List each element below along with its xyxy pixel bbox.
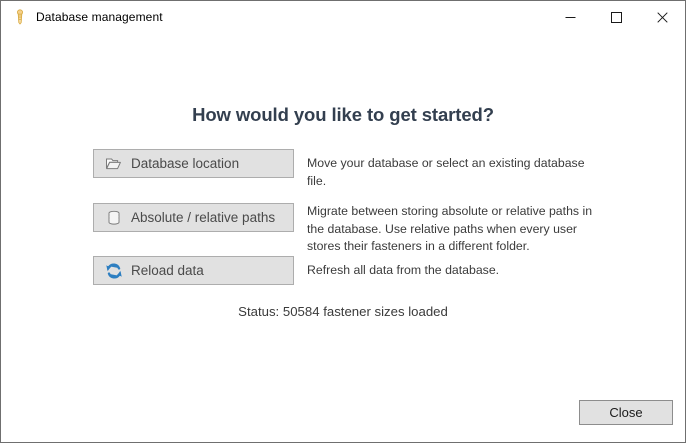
status-text: Status: 50584 fastener sizes loaded: [1, 304, 685, 319]
title-bar: Database management: [1, 1, 685, 33]
database-cylinder-icon: [105, 209, 123, 227]
database-location-button[interactable]: Database location: [93, 149, 294, 178]
page-title: How would you like to get started?: [1, 104, 685, 126]
open-folder-icon: [105, 155, 123, 173]
minimize-button[interactable]: [547, 1, 593, 33]
reload-data-button[interactable]: Reload data: [93, 256, 294, 285]
reload-data-label: Reload data: [131, 263, 204, 278]
window-controls: [547, 1, 685, 33]
action-row-database-location: Database location Move your database or …: [93, 149, 603, 190]
close-button[interactable]: Close: [579, 400, 673, 425]
window-title: Database management: [36, 10, 163, 24]
maximize-button[interactable]: [593, 1, 639, 33]
minimize-icon: [565, 12, 576, 23]
absolute-relative-paths-description: Migrate between storing absolute or rela…: [307, 203, 603, 256]
absolute-relative-paths-button[interactable]: Absolute / relative paths: [93, 203, 294, 232]
screw-fastener-icon: [12, 9, 28, 25]
action-row-absolute-relative-paths: Absolute / relative paths Migrate betwee…: [93, 203, 603, 256]
maximize-icon: [611, 12, 622, 23]
absolute-relative-paths-label: Absolute / relative paths: [131, 210, 275, 225]
database-location-description: Move your database or select an existing…: [307, 149, 603, 190]
database-management-window: Database management How would you: [0, 0, 686, 443]
reload-refresh-icon: [105, 262, 123, 280]
close-window-button[interactable]: [639, 1, 685, 33]
close-icon: [657, 12, 668, 23]
main-content: How would you like to get started? Datab…: [1, 33, 685, 384]
action-row-reload-data: Reload data Refresh all data from the da…: [93, 256, 603, 285]
footer-bar: Close: [1, 384, 685, 442]
database-location-label: Database location: [131, 156, 239, 171]
reload-data-description: Refresh all data from the database.: [307, 256, 603, 280]
